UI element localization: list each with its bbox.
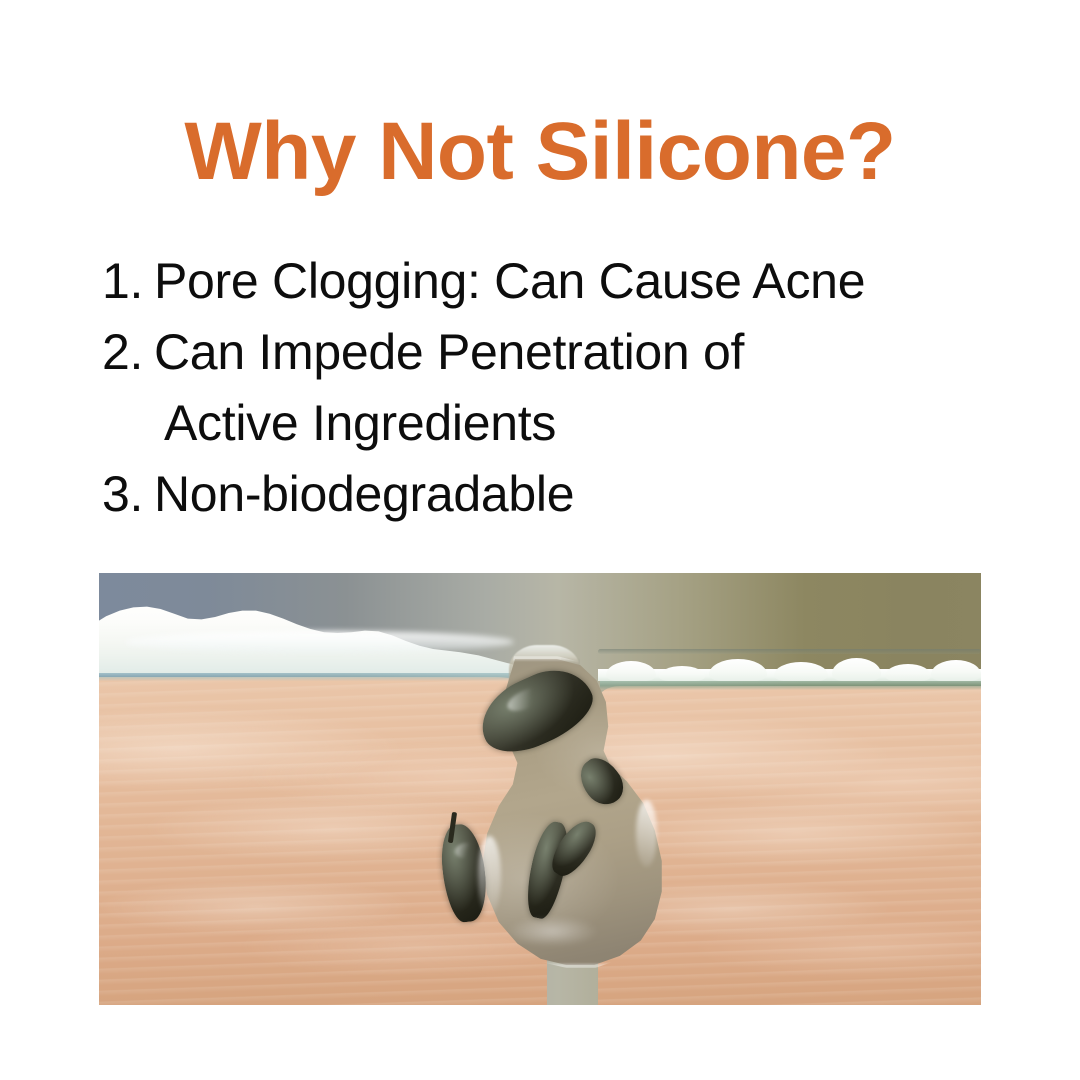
list-item-text: Can Impede Penetration of Active Ingredi… [154,317,974,459]
list-item-text-line2: Active Ingredients [154,388,974,459]
list-item: 1. Pore Clogging: Can Cause Acne [96,246,1016,317]
skin-cross-section-image [99,573,981,1005]
list-item-text-line1: Can Impede Penetration of [154,324,744,380]
list-item-text: Non-biodegradable [154,459,974,530]
reasons-list: 1. Pore Clogging: Can Cause Acne 2. Can … [96,246,1016,530]
list-item-text: Pore Clogging: Can Cause Acne [154,246,974,317]
list-item: 2. Can Impede Penetration of Active Ingr… [96,317,1016,459]
cream-gloss-highlight [125,631,513,653]
cream-bump [885,664,931,681]
poster-canvas: Why Not Silicone? 1. Pore Clogging: Can … [0,0,1080,1080]
pore-gloss-bottom [506,916,599,947]
list-item-marker: 3. [96,459,154,530]
list-item-marker: 2. [96,317,154,388]
cream-bump [931,660,981,681]
cream-bump [774,662,828,681]
clogged-pore [436,659,669,965]
pore-gloss-left [478,836,501,916]
pore-gloss-right [636,800,657,867]
page-title: Why Not Silicone? [0,104,1080,200]
cream-bump [832,658,882,681]
list-item-marker: 1. [96,246,154,317]
list-item: 3. Non-biodegradable [96,459,1016,530]
cream-bump [709,659,766,681]
cream-rim-right [598,649,981,654]
